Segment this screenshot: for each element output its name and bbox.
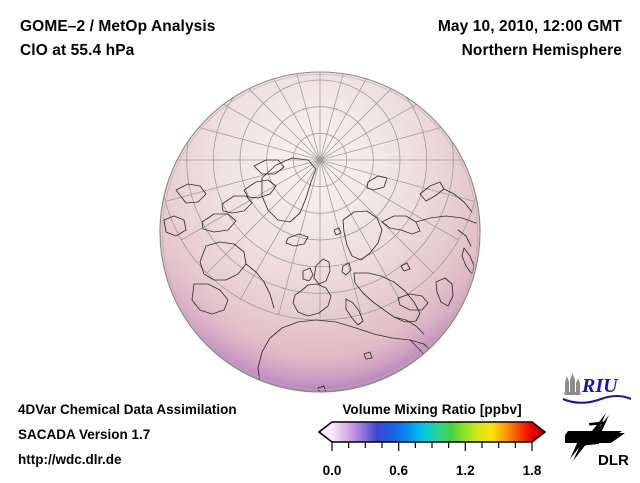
- globe-map: [158, 70, 482, 394]
- riu-wave-icon: [563, 396, 631, 403]
- colorbar-ticks: [332, 443, 532, 452]
- method-label: 4DVar Chemical Data Assimilation: [18, 402, 237, 417]
- colorbar-scale: [318, 421, 546, 462]
- figure-canvas: GOME–2 / MetOp Analysis ClO at 55.4 hPa …: [0, 0, 640, 480]
- dlr-logo: DLR: [565, 409, 635, 471]
- dlr-wordmark: DLR: [598, 452, 629, 469]
- cathedral-towers-icon: [565, 373, 581, 395]
- riu-logo: RIU: [560, 371, 634, 407]
- colorbar-tick-label: 0.6: [389, 463, 408, 478]
- riu-wordmark: RIU: [581, 375, 619, 397]
- colorbar-tick-label: 1.8: [523, 463, 542, 478]
- version-label: SACADA Version 1.7: [18, 427, 150, 442]
- colorbar: Volume Mixing Ratio [ppbv] 0.00.61.21.8: [318, 402, 546, 483]
- colorbar-tick-label: 0.0: [323, 463, 342, 478]
- colorbar-tick-labels: 0.00.61.21.8: [318, 463, 546, 483]
- colorbar-title: Volume Mixing Ratio [ppbv]: [318, 402, 546, 417]
- colorbar-tick-label: 1.2: [456, 463, 475, 478]
- region-label: Northern Hemisphere: [462, 42, 622, 60]
- timestamp-label: May 10, 2010, 12:00 GMT: [438, 18, 622, 36]
- page-title: GOME–2 / MetOp Analysis: [20, 18, 216, 36]
- website-url[interactable]: http://wdc.dlr.de: [18, 452, 122, 467]
- species-level-label: ClO at 55.4 hPa: [20, 42, 134, 60]
